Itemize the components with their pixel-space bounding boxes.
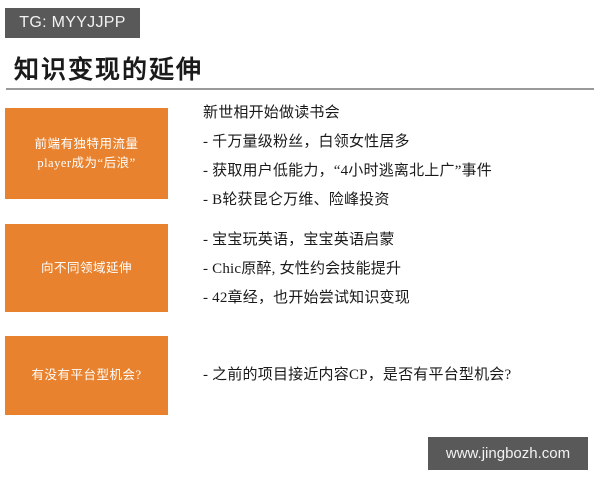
content-line: - 宝宝玩英语，宝宝英语启蒙	[203, 226, 410, 255]
title-divider	[6, 88, 594, 90]
content-line: 新世相开始做读书会	[203, 99, 492, 128]
content-line: - 42章经，也开始尝试知识变现	[203, 284, 410, 313]
content-line: - 千万量级粉丝，白领女性居多	[203, 128, 492, 157]
page-title: 知识变现的延伸	[14, 50, 203, 86]
content-line: - Chic原醉, 女性约会技能提升	[203, 255, 410, 284]
content-line: - 之前的项目接近内容CP，是否有平台型机会?	[203, 361, 511, 390]
content-group-1: 新世相开始做读书会 - 千万量级粉丝，白领女性居多 - 获取用户低能力，“4小时…	[203, 99, 492, 215]
topic-box-2: 向不同领域延伸	[5, 224, 168, 312]
content-group-2: - 宝宝玩英语，宝宝英语启蒙 - Chic原醉, 女性约会技能提升 - 42章经…	[203, 226, 410, 313]
content-group-3: - 之前的项目接近内容CP，是否有平台型机会?	[203, 361, 511, 390]
site-watermark-badge: www.jingbozh.com	[428, 437, 588, 470]
topic-box-3-label: 有没有平台型机会?	[31, 366, 141, 385]
tg-watermark-badge: TG: MYYJJPP	[5, 8, 140, 38]
content-line: - 获取用户低能力，“4小时逃离北上广”事件	[203, 157, 492, 186]
topic-box-3: 有没有平台型机会?	[5, 336, 168, 415]
topic-box-1-label: 前端有独特用流量 player成为“后浪”	[34, 135, 138, 173]
topic-box-2-label: 向不同领域延伸	[41, 259, 132, 278]
slide-canvas: TG: MYYJJPP 知识变现的延伸 前端有独特用流量 player成为“后浪…	[0, 0, 600, 480]
topic-box-1: 前端有独特用流量 player成为“后浪”	[5, 108, 168, 199]
content-line: - B轮获昆仑万维、险峰投资	[203, 186, 492, 215]
